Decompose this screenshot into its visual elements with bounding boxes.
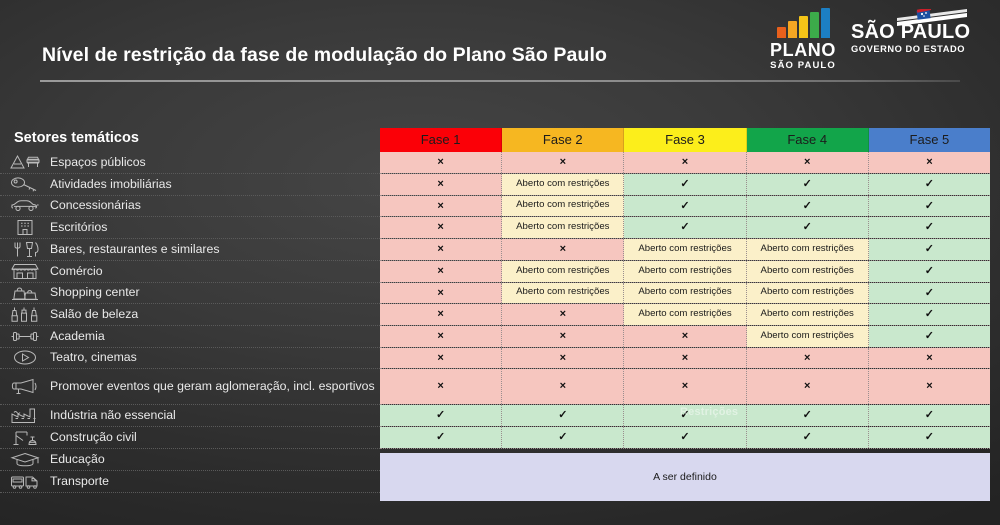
matrix-cell[interactable]: ✓: [747, 427, 869, 448]
closed-icon: ×: [682, 156, 688, 168]
matrix-cell[interactable]: ×: [380, 261, 502, 282]
closed-icon: ×: [437, 156, 443, 168]
matrix-cell[interactable]: ×: [869, 348, 990, 369]
open-icon: ✓: [925, 287, 934, 299]
open-icon: ✓: [680, 200, 689, 212]
closed-icon: ×: [682, 330, 688, 342]
open-icon: ✓: [436, 431, 445, 443]
phase-header-3[interactable]: Fase 3: [624, 128, 746, 152]
matrix-cell[interactable]: ✓: [380, 405, 502, 426]
matrix-cell[interactable]: ×: [502, 369, 624, 404]
graduation-cap-icon: [8, 448, 42, 470]
matrix-cell[interactable]: ✓: [624, 405, 746, 426]
closed-icon: ×: [926, 352, 932, 364]
plano-sao-paulo-logo: PLANO SÃO PAULO: [763, 8, 843, 71]
closed-icon: ×: [682, 352, 688, 364]
office-building-icon: [8, 217, 42, 239]
closed-icon: ×: [560, 330, 566, 342]
matrix-row: ✓✓✓✓✓: [380, 405, 990, 427]
matrix-cell[interactable]: ×: [502, 152, 624, 173]
cutlery-glass-icon: [8, 239, 42, 261]
closed-icon: ×: [437, 380, 443, 392]
matrix-cell[interactable]: ✓: [869, 174, 990, 195]
sector-row: Indústria não essencial: [0, 405, 380, 427]
matrix-row: ××Aberto com restriçõesAberto com restri…: [380, 304, 990, 326]
matrix-cell[interactable]: ×: [380, 348, 502, 369]
plano-logo-sub: SÃO PAULO: [763, 61, 843, 71]
sector-label: Shopping center: [42, 285, 140, 300]
closed-icon: ×: [926, 380, 932, 392]
phase-header-5[interactable]: Fase 5: [869, 128, 990, 152]
sector-label: Atividades imobiliárias: [42, 177, 172, 192]
open-icon: ✓: [803, 221, 812, 233]
closed-icon: ×: [437, 308, 443, 320]
open-icon: ✓: [925, 431, 934, 443]
sector-label: Bares, restaurantes e similares: [42, 242, 220, 257]
matrix-row: ×Aberto com restrições✓✓✓: [380, 217, 990, 239]
open-icon: ✓: [925, 308, 934, 320]
restriction-matrix: Fase 1Fase 2Fase 3Fase 4Fase 5 ××××××Abe…: [380, 128, 990, 449]
phase-header-1[interactable]: Fase 1: [380, 128, 502, 152]
matrix-cell[interactable]: ×: [380, 217, 502, 238]
matrix-cell[interactable]: ×: [624, 152, 746, 173]
matrix-cell[interactable]: ×: [502, 239, 624, 260]
closed-icon: ×: [437, 243, 443, 255]
matrix-cell[interactable]: Aberto com restrições: [747, 283, 869, 304]
matrix-row: ×Aberto com restriçõesAberto com restriç…: [380, 283, 990, 305]
matrix-cell[interactable]: Aberto com restrições: [502, 283, 624, 304]
matrix-cell[interactable]: ✓: [869, 326, 990, 347]
sector-row: Comércio: [0, 261, 380, 283]
construction-icon: [8, 427, 42, 449]
slide-header: Nível de restrição da fase de modulação …: [0, 0, 1000, 92]
closed-icon: ×: [437, 287, 443, 299]
salon-bottles-icon: [8, 303, 42, 325]
open-icon: ✓: [925, 243, 934, 255]
sector-label: Transporte: [42, 474, 109, 489]
matrix-cell[interactable]: ✓: [747, 174, 869, 195]
storefront-icon: [8, 260, 42, 282]
matrix-cell[interactable]: Aberto com restrições: [624, 239, 746, 260]
a-ser-definido-band[interactable]: A ser definido: [380, 453, 990, 501]
open-icon: ✓: [680, 431, 689, 443]
sector-row: Promover eventos que geram aglomeração, …: [0, 369, 380, 405]
matrix-row: ×××××: [380, 348, 990, 370]
closed-icon: ×: [560, 352, 566, 364]
closed-icon: ×: [437, 352, 443, 364]
matrix-cell[interactable]: ✓: [747, 405, 869, 426]
open-icon: ✓: [803, 178, 812, 190]
governo-sao-paulo-logo: SÃO PAULO GOVERNO DO ESTADO: [851, 22, 993, 54]
matrix-cell[interactable]: ✓: [869, 196, 990, 217]
sector-row: Concessionárias: [0, 196, 380, 218]
title-divider: [40, 80, 960, 82]
phase-header-4[interactable]: Fase 4: [747, 128, 869, 152]
matrix-cell[interactable]: ✓: [624, 427, 746, 448]
phase-header-row: Fase 1Fase 2Fase 3Fase 4Fase 5: [380, 128, 990, 152]
film-play-icon: [8, 347, 42, 369]
open-icon: ✓: [558, 431, 567, 443]
dumbbell-icon: [8, 325, 42, 347]
open-icon: ✓: [925, 200, 934, 212]
sectors-column: Setores temáticos Espaços públicosAtivid…: [0, 128, 380, 493]
matrix-cell[interactable]: ✓: [624, 174, 746, 195]
sector-row: Atividades imobiliárias: [0, 174, 380, 196]
closed-icon: ×: [804, 380, 810, 392]
matrix-cell[interactable]: ✓: [869, 405, 990, 426]
closed-icon: ×: [560, 243, 566, 255]
matrix-cell[interactable]: Aberto com restrições: [624, 304, 746, 325]
open-icon: ✓: [925, 330, 934, 342]
closed-icon: ×: [804, 352, 810, 364]
sector-row: Bares, restaurantes e similares: [0, 239, 380, 261]
sector-label: Educação: [42, 452, 105, 467]
matrix-cell[interactable]: ✓: [869, 261, 990, 282]
open-icon: ✓: [680, 178, 689, 190]
sector-row: Shopping center: [0, 283, 380, 305]
matrix-cell[interactable]: ×: [380, 369, 502, 404]
open-icon: ✓: [925, 409, 934, 421]
sector-row: Espaços públicos: [0, 152, 380, 174]
open-icon: ✓: [436, 409, 445, 421]
matrix-cell[interactable]: ×: [624, 326, 746, 347]
matrix-cell[interactable]: ×: [502, 348, 624, 369]
matrix-cell[interactable]: ✓: [869, 304, 990, 325]
closed-icon: ×: [437, 178, 443, 190]
matrix-row: ×××Aberto com restrições✓: [380, 326, 990, 348]
factory-icon: [8, 405, 42, 427]
matrix-cell[interactable]: ✓: [869, 217, 990, 238]
matrix-cell[interactable]: ✓: [869, 239, 990, 260]
matrix-cell[interactable]: ✓: [747, 196, 869, 217]
sector-label: Indústria não essencial: [42, 408, 176, 423]
matrix-cell[interactable]: Aberto com restrições: [502, 174, 624, 195]
matrix-row: ×××××: [380, 369, 990, 405]
matrix-cell[interactable]: Aberto com restrições: [747, 261, 869, 282]
matrix-cell[interactable]: ×: [380, 304, 502, 325]
sector-label: Academia: [42, 329, 105, 344]
megaphone-icon: [8, 376, 42, 398]
matrix-row: ×Aberto com restrições✓✓✓: [380, 174, 990, 196]
sector-label: Comércio: [42, 264, 103, 279]
closed-icon: ×: [682, 380, 688, 392]
closed-icon: ×: [437, 200, 443, 212]
sector-row: Salão de beleza: [0, 304, 380, 326]
matrix-cell[interactable]: Aberto com restrições: [624, 283, 746, 304]
matrix-cell[interactable]: ✓: [624, 217, 746, 238]
closed-icon: ×: [437, 221, 443, 233]
sector-label: Espaços públicos: [42, 155, 146, 170]
sectors-header: Setores temáticos: [0, 128, 380, 152]
matrix-cell[interactable]: ✓: [747, 217, 869, 238]
matrix-cell[interactable]: ×: [747, 348, 869, 369]
sector-label: Construção civil: [42, 430, 137, 445]
shopping-bags-icon: [8, 282, 42, 304]
sector-row: Transporte: [0, 471, 380, 493]
matrix-cell[interactable]: ×: [624, 369, 746, 404]
matrix-cell[interactable]: ✓: [380, 427, 502, 448]
sector-row-list: Espaços públicosAtividades imobiliáriasC…: [0, 152, 380, 493]
open-icon: ✓: [680, 221, 689, 233]
matrix-cell[interactable]: ✓: [502, 405, 624, 426]
matrix-cell[interactable]: Aberto com restrições: [747, 326, 869, 347]
open-icon: ✓: [925, 178, 934, 190]
phase-header-2[interactable]: Fase 2: [502, 128, 624, 152]
governo-logo-sub: GOVERNO DO ESTADO: [851, 45, 993, 54]
matrix-cell[interactable]: ✓: [869, 427, 990, 448]
matrix-cell[interactable]: ×: [380, 196, 502, 217]
sector-row: Educação: [0, 449, 380, 471]
governo-logo-word: SÃO PAULO: [851, 22, 993, 42]
open-icon: ✓: [803, 431, 812, 443]
closed-icon: ×: [804, 156, 810, 168]
matrix-cell[interactable]: ×: [380, 152, 502, 173]
matrix-cell[interactable]: ×: [380, 239, 502, 260]
matrix-row: ×××××: [380, 152, 990, 174]
matrix-cell[interactable]: ✓: [502, 427, 624, 448]
matrix-row: ✓✓✓✓✓: [380, 427, 990, 449]
open-icon: ✓: [803, 200, 812, 212]
matrix-cell[interactable]: ✓: [624, 196, 746, 217]
sector-label: Promover eventos que geram aglomeração, …: [42, 379, 375, 394]
matrix-cell[interactable]: Aberto com restrições: [502, 261, 624, 282]
bus-truck-icon: [8, 470, 42, 492]
matrix-cell[interactable]: ×: [747, 369, 869, 404]
matrix-cell[interactable]: Aberto com restrições: [747, 239, 869, 260]
matrix-cell[interactable]: ×: [747, 152, 869, 173]
open-icon: ✓: [803, 409, 812, 421]
closed-icon: ×: [926, 156, 932, 168]
car-icon: [8, 195, 42, 217]
matrix-row: ×Aberto com restriçõesAberto com restriç…: [380, 261, 990, 283]
sector-label: Concessionárias: [42, 198, 141, 213]
matrix-cell[interactable]: ×: [869, 152, 990, 173]
matrix-cell[interactable]: ×: [869, 369, 990, 404]
sector-label: Salão de beleza: [42, 307, 138, 322]
open-icon: ✓: [558, 409, 567, 421]
open-icon: ✓: [925, 265, 934, 277]
closed-icon: ×: [560, 156, 566, 168]
matrix-cell[interactable]: Aberto com restrições: [747, 304, 869, 325]
sector-row: Teatro, cinemas: [0, 348, 380, 370]
open-icon: ✓: [925, 221, 934, 233]
matrix-cell[interactable]: ×: [380, 283, 502, 304]
closed-icon: ×: [437, 265, 443, 277]
open-icon: ✓: [680, 409, 689, 421]
matrix-cell[interactable]: Aberto com restrições: [624, 261, 746, 282]
closed-icon: ×: [437, 330, 443, 342]
sector-row: Escritórios: [0, 217, 380, 239]
sector-label: Escritórios: [42, 220, 107, 235]
matrix-row: ×Aberto com restrições✓✓✓: [380, 196, 990, 218]
matrix-cell[interactable]: ×: [380, 174, 502, 195]
sector-row: Academia: [0, 326, 380, 348]
matrix-cell[interactable]: ×: [502, 304, 624, 325]
matrix-body: ××××××Aberto com restrições✓✓✓×Aberto co…: [380, 152, 990, 449]
matrix-cell[interactable]: Aberto com restrições: [502, 196, 624, 217]
matrix-row: ××Aberto com restriçõesAberto com restri…: [380, 239, 990, 261]
plano-logo-word: PLANO: [763, 41, 843, 59]
park-bench-icon: [8, 151, 42, 173]
matrix-cell[interactable]: ×: [502, 326, 624, 347]
closed-icon: ×: [560, 308, 566, 320]
sector-row: Construção civil: [0, 427, 380, 449]
matrix-cell[interactable]: ✓: [869, 283, 990, 304]
sector-label: Teatro, cinemas: [42, 350, 137, 365]
matrix-cell[interactable]: ×: [624, 348, 746, 369]
key-icon: [8, 173, 42, 195]
plano-bars-icon: [763, 8, 843, 38]
matrix-cell[interactable]: Aberto com restrições: [502, 217, 624, 238]
page-title: Nível de restrição da fase de modulação …: [42, 44, 607, 67]
matrix-cell[interactable]: ×: [380, 326, 502, 347]
closed-icon: ×: [560, 380, 566, 392]
